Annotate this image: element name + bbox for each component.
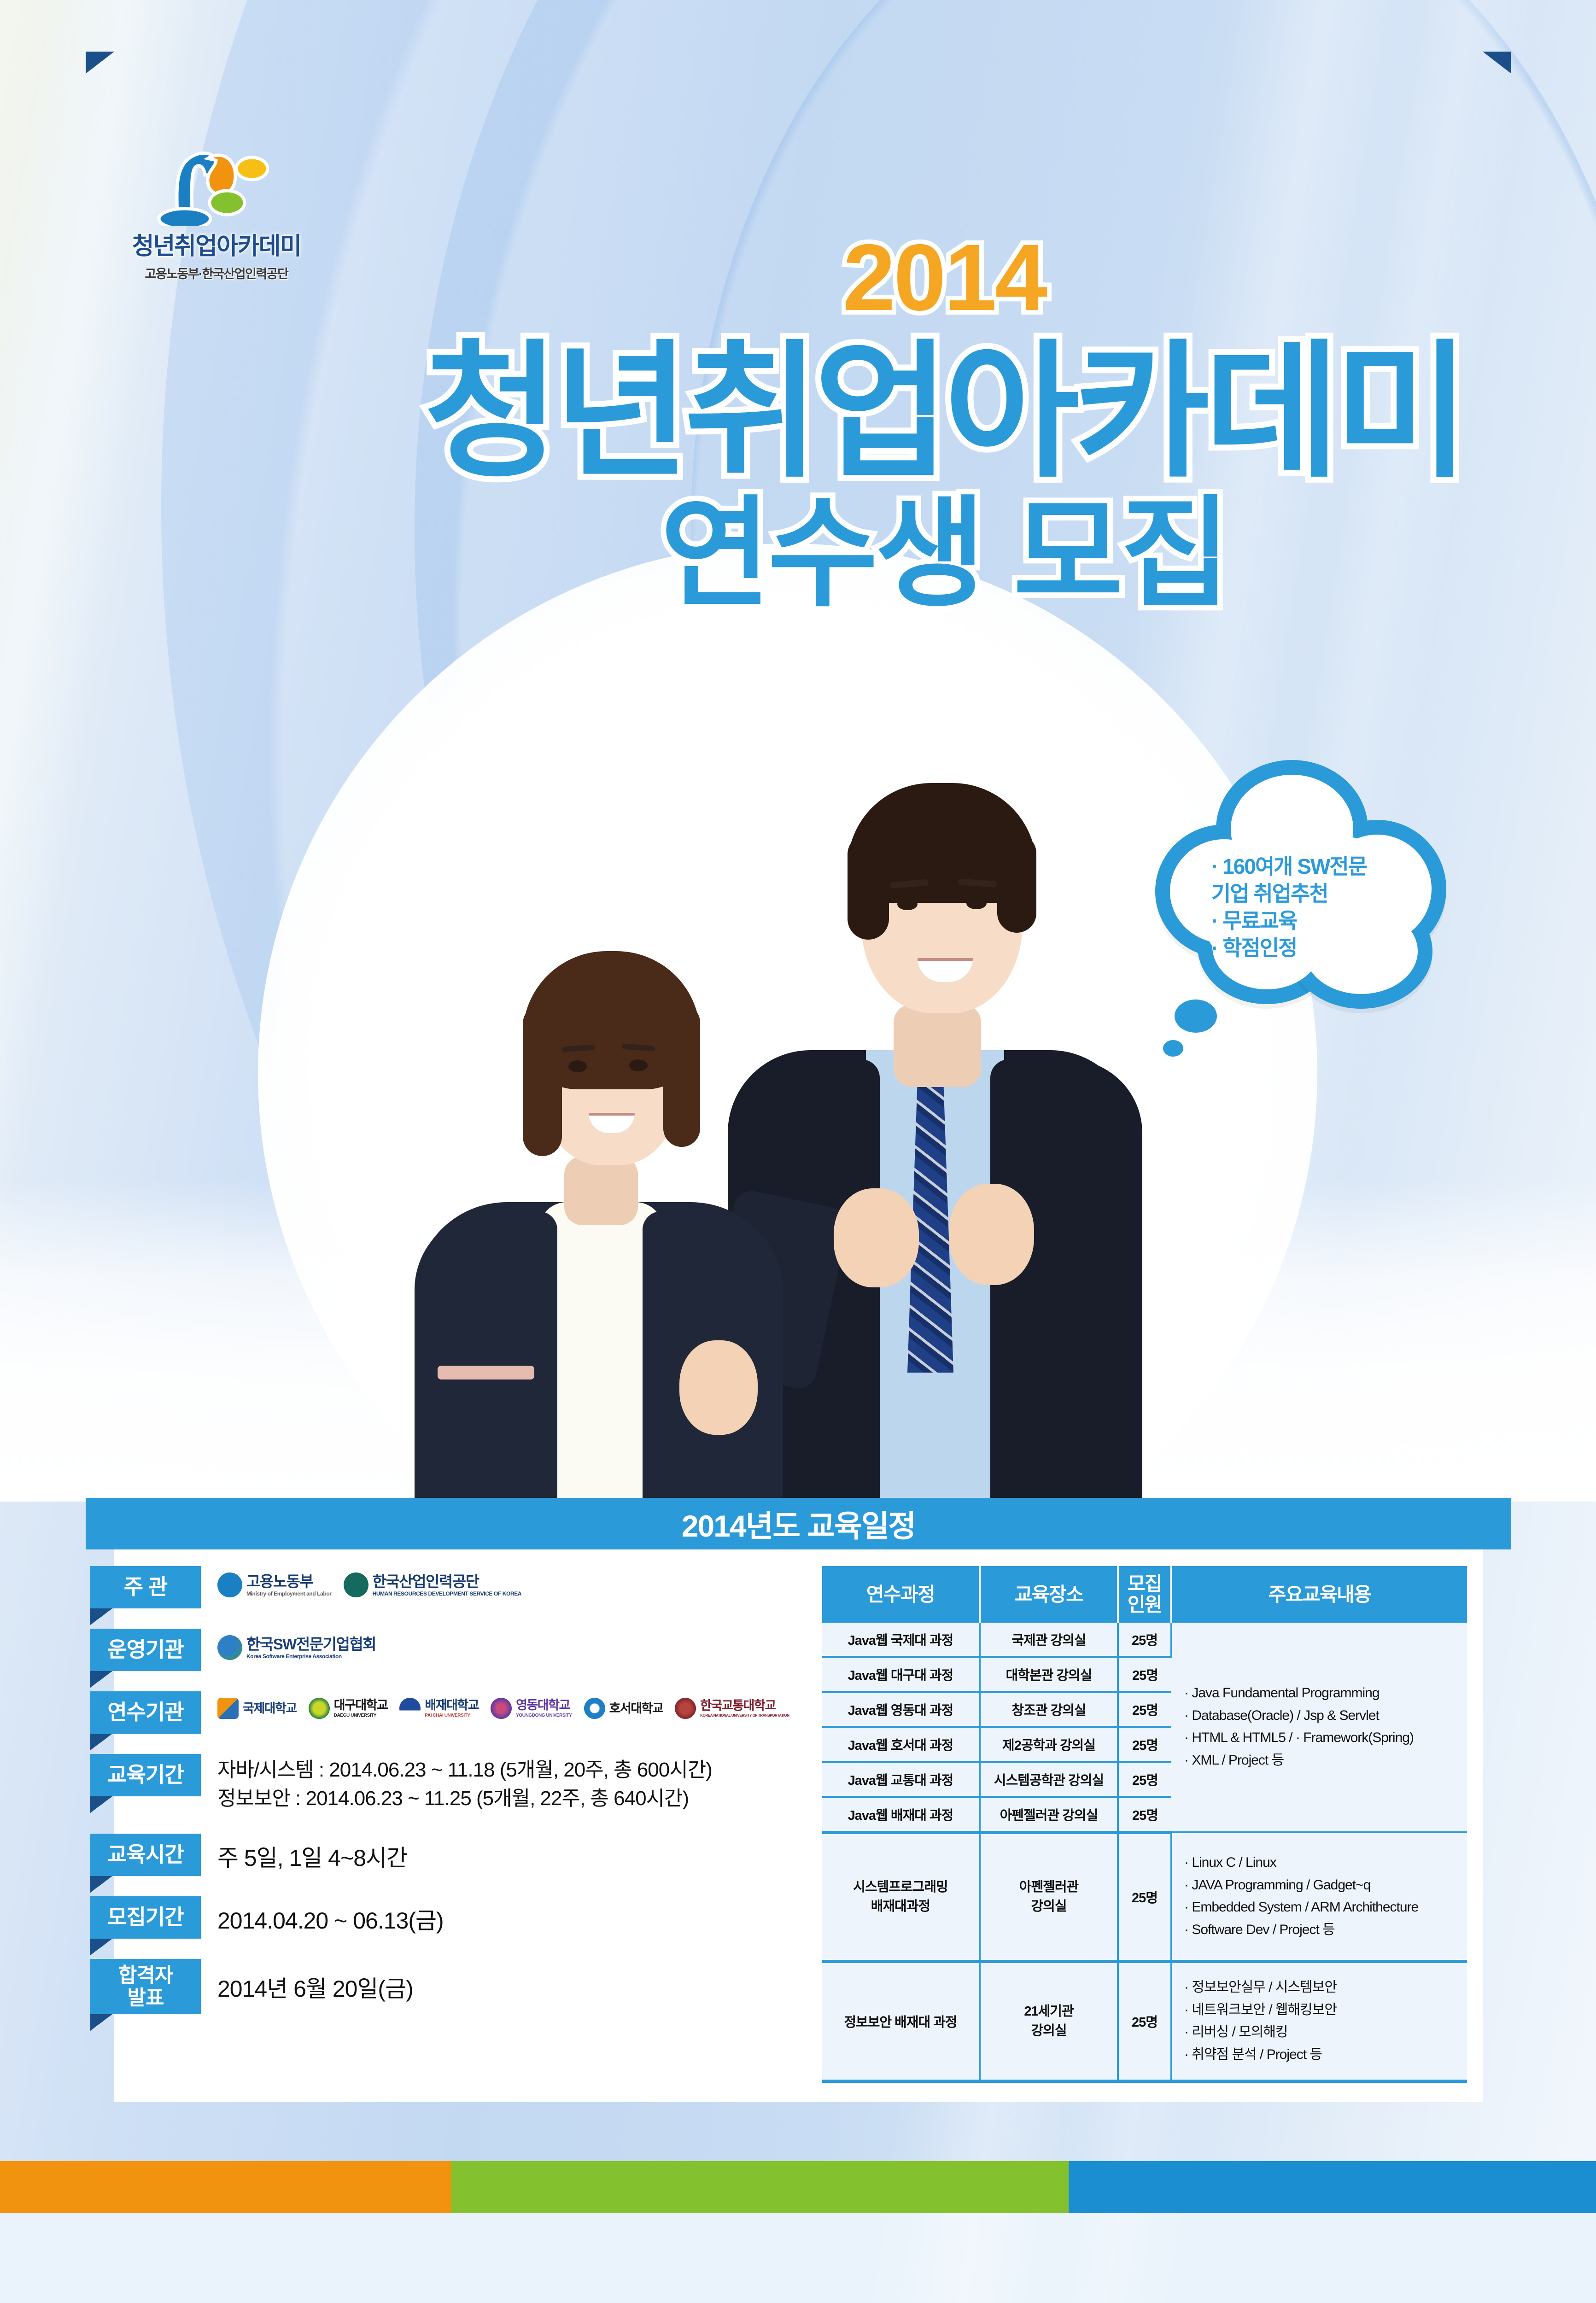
female-neck [564, 1156, 638, 1225]
benefits-speech-bubble: · 160여개 SW전문 기업 취업추천 · 무료교육 · 학점인정 [1147, 755, 1460, 1059]
male-fist-right [949, 1184, 1034, 1285]
hrdkorea-name-en: HUMAN RESOURCES DEVELOPMENT SERVICE OF K… [373, 1591, 522, 1596]
logo-hoseo-univ: 호서대학교 [584, 1698, 663, 1719]
content-line: · 네트워크보안 / 웹해킹보안 [1184, 1999, 1464, 2022]
cell-course: Java웹 교통대 과정 [822, 1762, 980, 1797]
kosea-glyph-icon [217, 1635, 242, 1660]
period-line-1: 자바/시스템 : 2014.06.23 ~ 11.18 (5개월, 20주, 총… [217, 1756, 790, 1784]
info-value-host: 고용노동부 Ministry of Employment and Labor 한… [201, 1566, 790, 1597]
info-value-institutions: 국제대학교 대구대학교 DAEGU UNIVERSITY 배재대학교 PAI C… [201, 1691, 790, 1719]
info-row-hours: 교육시간 주 5일, 1일 4~8시간 [90, 1834, 790, 1876]
daegu-name-kr: 대구대학교 [334, 1699, 388, 1712]
male-eye-left [897, 898, 918, 910]
hrdkorea-glyph-icon [344, 1572, 368, 1597]
molab-glyph-icon [217, 1572, 242, 1597]
male-neck [894, 1004, 981, 1087]
male-hair-side-left [848, 834, 889, 940]
youngdong-glyph-icon [491, 1698, 512, 1719]
info-label-operator: 운영기관 [90, 1629, 201, 1671]
kookje-glyph-icon [217, 1698, 239, 1719]
knut-glyph-icon [675, 1698, 696, 1719]
logo-molab: 고용노동부 Ministry of Employment and Labor [217, 1572, 332, 1597]
period-line-2: 정보보안 : 2014.06.23 ~ 11.25 (5개월, 22주, 총 6… [217, 1784, 790, 1813]
cell-course: 시스템프로그래밍 배재대과정 [822, 1832, 980, 1961]
info-row-host: 주 관 고용노동부 Ministry of Employment and Lab… [90, 1566, 790, 1608]
cell-quota: 25명 [1118, 1657, 1171, 1692]
info-value-period: 자바/시스템 : 2014.06.23 ~ 11.18 (5개월, 20주, 총… [201, 1754, 790, 1813]
course-schedule-table: 연수과정 교육장소 모집 인원 주요교육내용 Java웹 국제대 과정 국제관 … [822, 1566, 1467, 2083]
kookje-name-kr: 국제대학교 [243, 1702, 297, 1715]
female-hair-side-right [663, 1004, 700, 1147]
col-header-place: 교육장소 [980, 1566, 1118, 1623]
info-label-period: 교육기간 [90, 1754, 201, 1796]
institution-logo-group: 국제대학교 대구대학교 DAEGU UNIVERSITY 배재대학교 PAI C… [217, 1693, 790, 1719]
bubble-line-4: · 학점인정 [1211, 935, 1405, 962]
bubble-text-list: · 160여개 SW전문 기업 취업추천 · 무료교육 · 학점인정 [1211, 853, 1405, 962]
content-line: · XML / Project 등 [1184, 1749, 1464, 1772]
person-female [405, 852, 792, 1529]
female-hair-side-left [523, 1004, 562, 1156]
content-line: · HTML & HTML5 / · Framework(Spring) [1184, 1727, 1464, 1749]
info-value-hours: 주 5일, 1일 4~8시간 [201, 1834, 790, 1875]
paichai-name-en: PAI CHAI UNIVERSITY [425, 1713, 479, 1718]
info-value-application: 2014.04.20 ~ 06.13(금) [201, 1896, 790, 1937]
title-subtitle: 연수생 모집 [415, 491, 1474, 617]
logo-hrdkorea: 한국산업인력공단 HUMAN RESOURCES DEVELOPMENT SER… [344, 1572, 522, 1597]
info-value-operator: 한국SW전문기업협회 Korea Software Enterprise Ass… [201, 1629, 790, 1660]
col-header-course: 연수과정 [822, 1566, 980, 1623]
hoseo-name-kr: 호서대학교 [609, 1702, 663, 1715]
academy-logo: 청년취업아카데미 고용노동부·한국산업인력공단 [108, 138, 325, 282]
cell-place: 창조관 강의실 [980, 1692, 1118, 1727]
content-line: · 정보보안실무 / 시스템보안 [1184, 1976, 1464, 1999]
cell-place: 제2공학과 강의실 [980, 1727, 1118, 1762]
cell-course: Java웹 대구대 과정 [822, 1657, 980, 1692]
logo-knut-univ: 한국교통대학교 KOREA NATIONAL UNIVERSITY OF TRA… [675, 1698, 789, 1719]
bottom-bar-orange [0, 2161, 451, 2213]
content-line: · Software Dev / Project 등 [1184, 1919, 1464, 1941]
title-main: 청년취업아카데미 [415, 337, 1474, 487]
female-eye-right [629, 1059, 648, 1071]
male-fist-left [834, 1188, 919, 1287]
col-header-quota: 모집 인원 [1118, 1566, 1171, 1623]
content-line: · Embedded System / ARM Archithecture [1184, 1896, 1464, 1919]
cell-course: Java웹 호서대 과정 [822, 1727, 980, 1762]
content-line: · Linux C / Linux [1184, 1852, 1464, 1874]
cell-quota: 25명 [1118, 1623, 1171, 1657]
content-line: · Database(Oracle) / Jsp & Servlet [1184, 1705, 1464, 1727]
host-logo-group: 고용노동부 Ministry of Employment and Labor 한… [217, 1568, 790, 1597]
info-label-announcement: 합격자 발표 [90, 1959, 201, 2014]
female-fist [679, 1340, 758, 1435]
cell-content-sysprog: · Linux C / Linux · JAVA Programming / G… [1171, 1832, 1467, 1961]
cell-quota: 25명 [1118, 1692, 1171, 1727]
schedule-banner: 2014년도 교육일정 [86, 1498, 1511, 1549]
title-year: 2014 [415, 230, 1474, 325]
cell-quota: 25명 [1118, 1762, 1171, 1797]
logo-daegu-univ: 대구대학교 DAEGU UNIVERSITY [309, 1698, 388, 1719]
info-row-announcement: 합격자 발표 2014년 6월 20일(금) [90, 1959, 790, 2014]
cell-course: 정보보안 배재대 과정 [822, 1961, 980, 2081]
students-photo [378, 719, 1152, 1529]
youngdong-name-kr: 영동대학교 [516, 1699, 572, 1712]
table-header-row: 연수과정 교육장소 모집 인원 주요교육내용 [822, 1566, 1467, 1623]
content-line: · 취약점 분석 / Project 등 [1184, 2044, 1464, 2066]
cell-quota: 25명 [1118, 1832, 1171, 1961]
cell-place: 21세기관 강의실 [980, 1961, 1118, 2081]
logo-subcaption: 고용노동부·한국산업인력공단 [108, 264, 325, 282]
daegu-glyph-icon [309, 1698, 330, 1719]
table-row: 정보보안 배재대 과정 21세기관 강의실 25명 · 정보보안실무 / 시스템… [822, 1961, 1467, 2081]
banner-fold-right [1483, 52, 1511, 74]
info-row-institutions: 연수기관 국제대학교 대구대학교 DAEGU UNIVERSITY [90, 1691, 790, 1734]
daegu-name-en: DAEGU UNIVERSITY [334, 1713, 388, 1718]
table-row: 시스템프로그래밍 배재대과정 아펜젤러관 강의실 25명 · Linux C /… [822, 1832, 1467, 1961]
cell-content-security: · 정보보안실무 / 시스템보안 · 네트워크보안 / 웹해킹보안 · 리버싱 … [1171, 1961, 1467, 2081]
cell-quota: 25명 [1118, 1797, 1171, 1833]
logo-caption: 청년취업아카데미 [108, 227, 325, 261]
info-label-institutions: 연수기관 [90, 1691, 201, 1734]
info-row-application: 모집기간 2014.04.20 ~ 06.13(금) [90, 1896, 790, 1939]
male-lapel-right [990, 1059, 1142, 1534]
cell-course: Java웹 배재대 과정 [822, 1797, 980, 1833]
cell-place: 국제관 강의실 [980, 1623, 1118, 1657]
cell-quota: 25명 [1118, 1727, 1171, 1762]
info-label-application: 모집기간 [90, 1896, 201, 1939]
info-row-period: 교육기간 자바/시스템 : 2014.06.23 ~ 11.18 (5개월, 2… [90, 1754, 790, 1813]
cell-place: 아펜젤러관 강의실 [980, 1797, 1118, 1833]
col-header-content: 주요교육내용 [1171, 1566, 1467, 1623]
bottom-bar-green [451, 2161, 1069, 2213]
content-line: · JAVA Programming / Gadget~q [1184, 1874, 1464, 1897]
hrdkorea-name-kr: 한국산업인력공단 [373, 1574, 522, 1589]
bubble-line-3: · 무료교육 [1211, 907, 1405, 935]
logo-kosea: 한국SW전문기업협회 Korea Software Enterprise Ass… [217, 1635, 376, 1660]
content-line: · Java Fundamental Programming [1184, 1682, 1464, 1705]
table-row: Java웹 국제대 과정 국제관 강의실 25명 · Java Fundamen… [822, 1623, 1467, 1657]
female-pocket-trim [438, 1366, 534, 1379]
knut-name-en: KOREA NATIONAL UNIVERSITY OF TRANSPORTAT… [700, 1714, 789, 1718]
paichai-name-kr: 배재대학교 [425, 1699, 479, 1712]
cell-place: 아펜젤러관 강의실 [980, 1832, 1118, 1961]
schedule-banner-title: 2014년도 교육일정 [682, 1502, 915, 1546]
info-label-host: 주 관 [90, 1566, 201, 1608]
bubble-line-2: 기업 취업추천 [1211, 880, 1405, 907]
male-eye-right [966, 897, 987, 909]
kosea-name-kr: 한국SW전문기업협회 [246, 1637, 376, 1652]
program-info-list: 주 관 고용노동부 Ministry of Employment and Lab… [90, 1566, 790, 2014]
kosea-name-en: Korea Software Enterprise Association [246, 1654, 376, 1659]
cell-course: Java웹 국제대 과정 [822, 1623, 980, 1657]
logo-youngdong-univ: 영동대학교 YOUNGDONG UNIVERSITY [491, 1698, 572, 1719]
youngdong-name-en: YOUNGDONG UNIVERSITY [516, 1713, 572, 1718]
info-row-operator: 운영기관 한국SW전문기업협회 Korea Software Enterpris… [90, 1629, 790, 1671]
bubble-tail-large [1175, 1000, 1217, 1033]
info-value-announcement: 2014년 6월 20일(금) [201, 1959, 790, 2005]
logo-mark-icon [108, 138, 325, 226]
content-line: · 리버싱 / 모의해킹 [1184, 2021, 1464, 2044]
knut-name-kr: 한국교통대학교 [700, 1700, 789, 1712]
cell-content-java: · Java Fundamental Programming · Databas… [1171, 1623, 1467, 1833]
cell-quota: 25명 [1118, 1961, 1171, 2081]
banner-fold-left [86, 52, 114, 74]
cell-place: 시스템공학관 강의실 [980, 1762, 1118, 1797]
molab-name-kr: 고용노동부 [246, 1574, 332, 1589]
operator-logo-group: 한국SW전문기업협회 Korea Software Enterprise Ass… [217, 1631, 790, 1660]
logo-paichai-univ: 배재대학교 PAI CHAI UNIVERSITY [399, 1698, 479, 1719]
poster-title-block: 2014 청년취업아카데미 연수생 모집 [415, 230, 1474, 617]
info-label-hours: 교육시간 [90, 1834, 201, 1876]
bubble-tail-small [1163, 1040, 1183, 1057]
male-hair-side-right [997, 834, 1036, 933]
bottom-bar-blue [1069, 2161, 1596, 2213]
bottom-color-bars [0, 2161, 1596, 2213]
logo-kookje-univ: 국제대학교 [217, 1698, 297, 1719]
molab-name-en: Ministry of Employment and Labor [246, 1591, 332, 1596]
cell-course: Java웹 영동대 과정 [822, 1692, 980, 1727]
paichai-glyph-icon [399, 1698, 421, 1719]
female-eye-left [568, 1060, 587, 1072]
bubble-line-1: · 160여개 SW전문 [1211, 853, 1405, 880]
cell-place: 대학본관 강의실 [980, 1657, 1118, 1692]
hoseo-glyph-icon [584, 1698, 605, 1719]
